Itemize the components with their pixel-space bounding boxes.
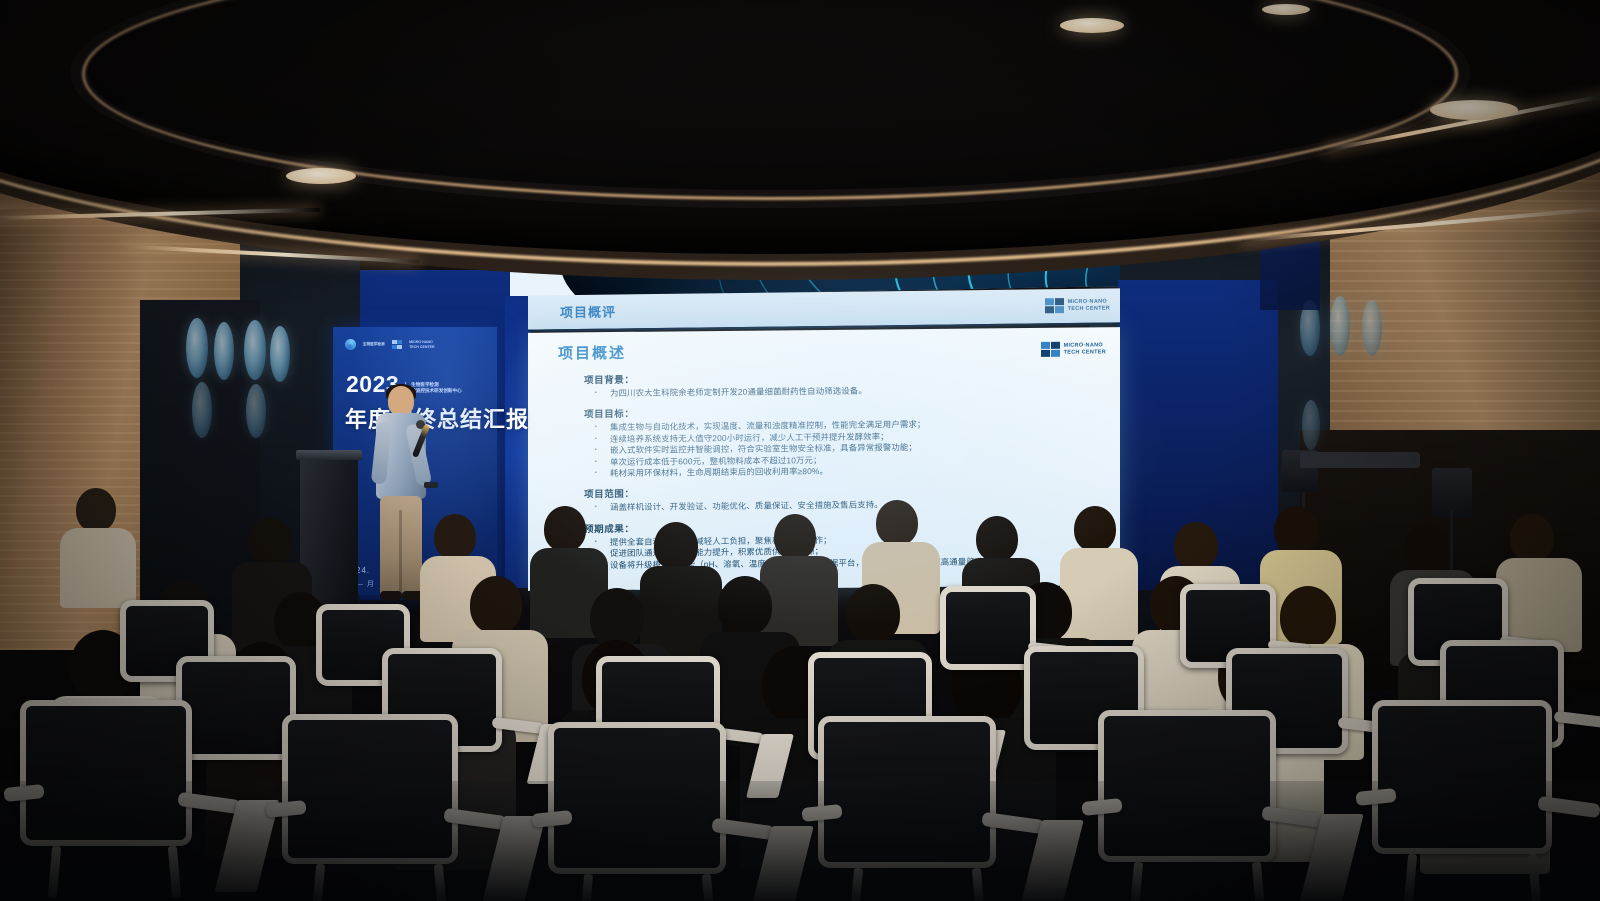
head — [590, 588, 644, 648]
bullet-item: 为四川农大生科院余老师定制开发20通量细菌耐药性自动筛选设备。 — [584, 383, 1100, 399]
chair-backrest — [940, 586, 1036, 670]
presenter-head — [388, 386, 414, 416]
body — [1060, 548, 1138, 640]
banner-brand-line: 生物医学检测 — [363, 342, 385, 346]
ceiling-disc-light-3 — [1430, 100, 1518, 120]
floor-shadow — [0, 781, 1600, 901]
head — [876, 500, 918, 546]
head — [248, 518, 292, 566]
slide-band-logo: MICRO·NANO TECH CENTER — [1045, 298, 1110, 314]
oval-panel-6 — [246, 384, 266, 438]
head — [470, 576, 522, 634]
slide-logo-line-1: MICRO·NANO — [1064, 342, 1106, 349]
head — [846, 584, 900, 644]
banner-logo-row: 生物医学检测 MICRO·NANO TECH CENTER — [345, 339, 435, 350]
slide-title: 项目概述 — [558, 342, 626, 364]
head — [1174, 522, 1218, 570]
ceiling-disc-light-2 — [1060, 18, 1124, 33]
tech-center-logo-icon — [1041, 342, 1060, 357]
body — [60, 528, 136, 608]
podium-top — [296, 450, 362, 460]
banner-brand-icon — [345, 339, 356, 350]
rack-equipment — [1300, 452, 1420, 468]
banner-brand-text: 生物医学检测 — [363, 342, 385, 346]
oval-panel-10 — [1302, 400, 1320, 450]
oval-panel-3 — [244, 320, 266, 380]
head — [1404, 524, 1450, 574]
logo-line-1: MICRO·NANO — [1068, 298, 1110, 306]
ceiling-disc-light-4 — [1262, 4, 1310, 15]
slide-header-band: 项目概评 MICRO·NANO TECH CENTER — [528, 288, 1120, 331]
slide-logo-line-2: TECH CENTER — [1064, 349, 1106, 356]
slide-corner-logo: MICRO·NANO TECH CENTER — [1041, 341, 1106, 357]
head — [718, 576, 772, 636]
head — [654, 522, 698, 570]
slide-section-background: 项目背景： 为四川农大生科院余老师定制开发20通量细菌耐药性自动筛选设备。 — [584, 367, 1100, 399]
head — [1274, 506, 1318, 554]
head — [76, 488, 116, 532]
logo-mark-icon — [1045, 298, 1064, 313]
head — [774, 514, 816, 560]
oval-panel-2 — [214, 322, 234, 380]
logo-line-2: TECH CENTER — [1068, 305, 1110, 313]
oval-panel-1 — [186, 318, 208, 378]
head — [976, 516, 1018, 562]
slide-band-logo-text: MICRO·NANO TECH CENTER — [1068, 298, 1110, 313]
oval-panel-5 — [192, 382, 212, 438]
head — [544, 506, 586, 552]
oval-panel-4 — [270, 326, 290, 382]
ceiling-disc-light-1 — [286, 168, 356, 184]
banner-secondary-text: MICRO·NANO TECH CENTER — [409, 340, 435, 349]
slide-section-goals: 项目目标： 集成生物与自动化技术，实现温度、流量和浊度精准控制，性能完全满足用户… — [584, 402, 1100, 480]
slide-band-title: 项目概评 — [560, 302, 616, 322]
banner-secondary-line: MICRO·NANO — [409, 340, 435, 344]
slide-logo-text: MICRO·NANO TECH CENTER — [1064, 342, 1106, 356]
head — [434, 514, 476, 560]
chair-backrest — [176, 656, 296, 760]
auditorium-scene: · 设备提供温度和浊度（pH、DO等）在线监测，结合云端数据平台，满足高通量筛选… — [0, 0, 1600, 901]
ceiling-light-rig — [0, 0, 1600, 320]
banner-secondary-logo-icon — [392, 340, 403, 349]
head — [1074, 506, 1116, 552]
head — [1280, 586, 1336, 648]
banner-secondary-line2: TECH CENTER — [409, 345, 435, 349]
section-bullets: 为四川农大生科院余老师定制开发20通量细菌耐药性自动筛选设备。 — [584, 383, 1100, 399]
head — [1510, 514, 1554, 562]
